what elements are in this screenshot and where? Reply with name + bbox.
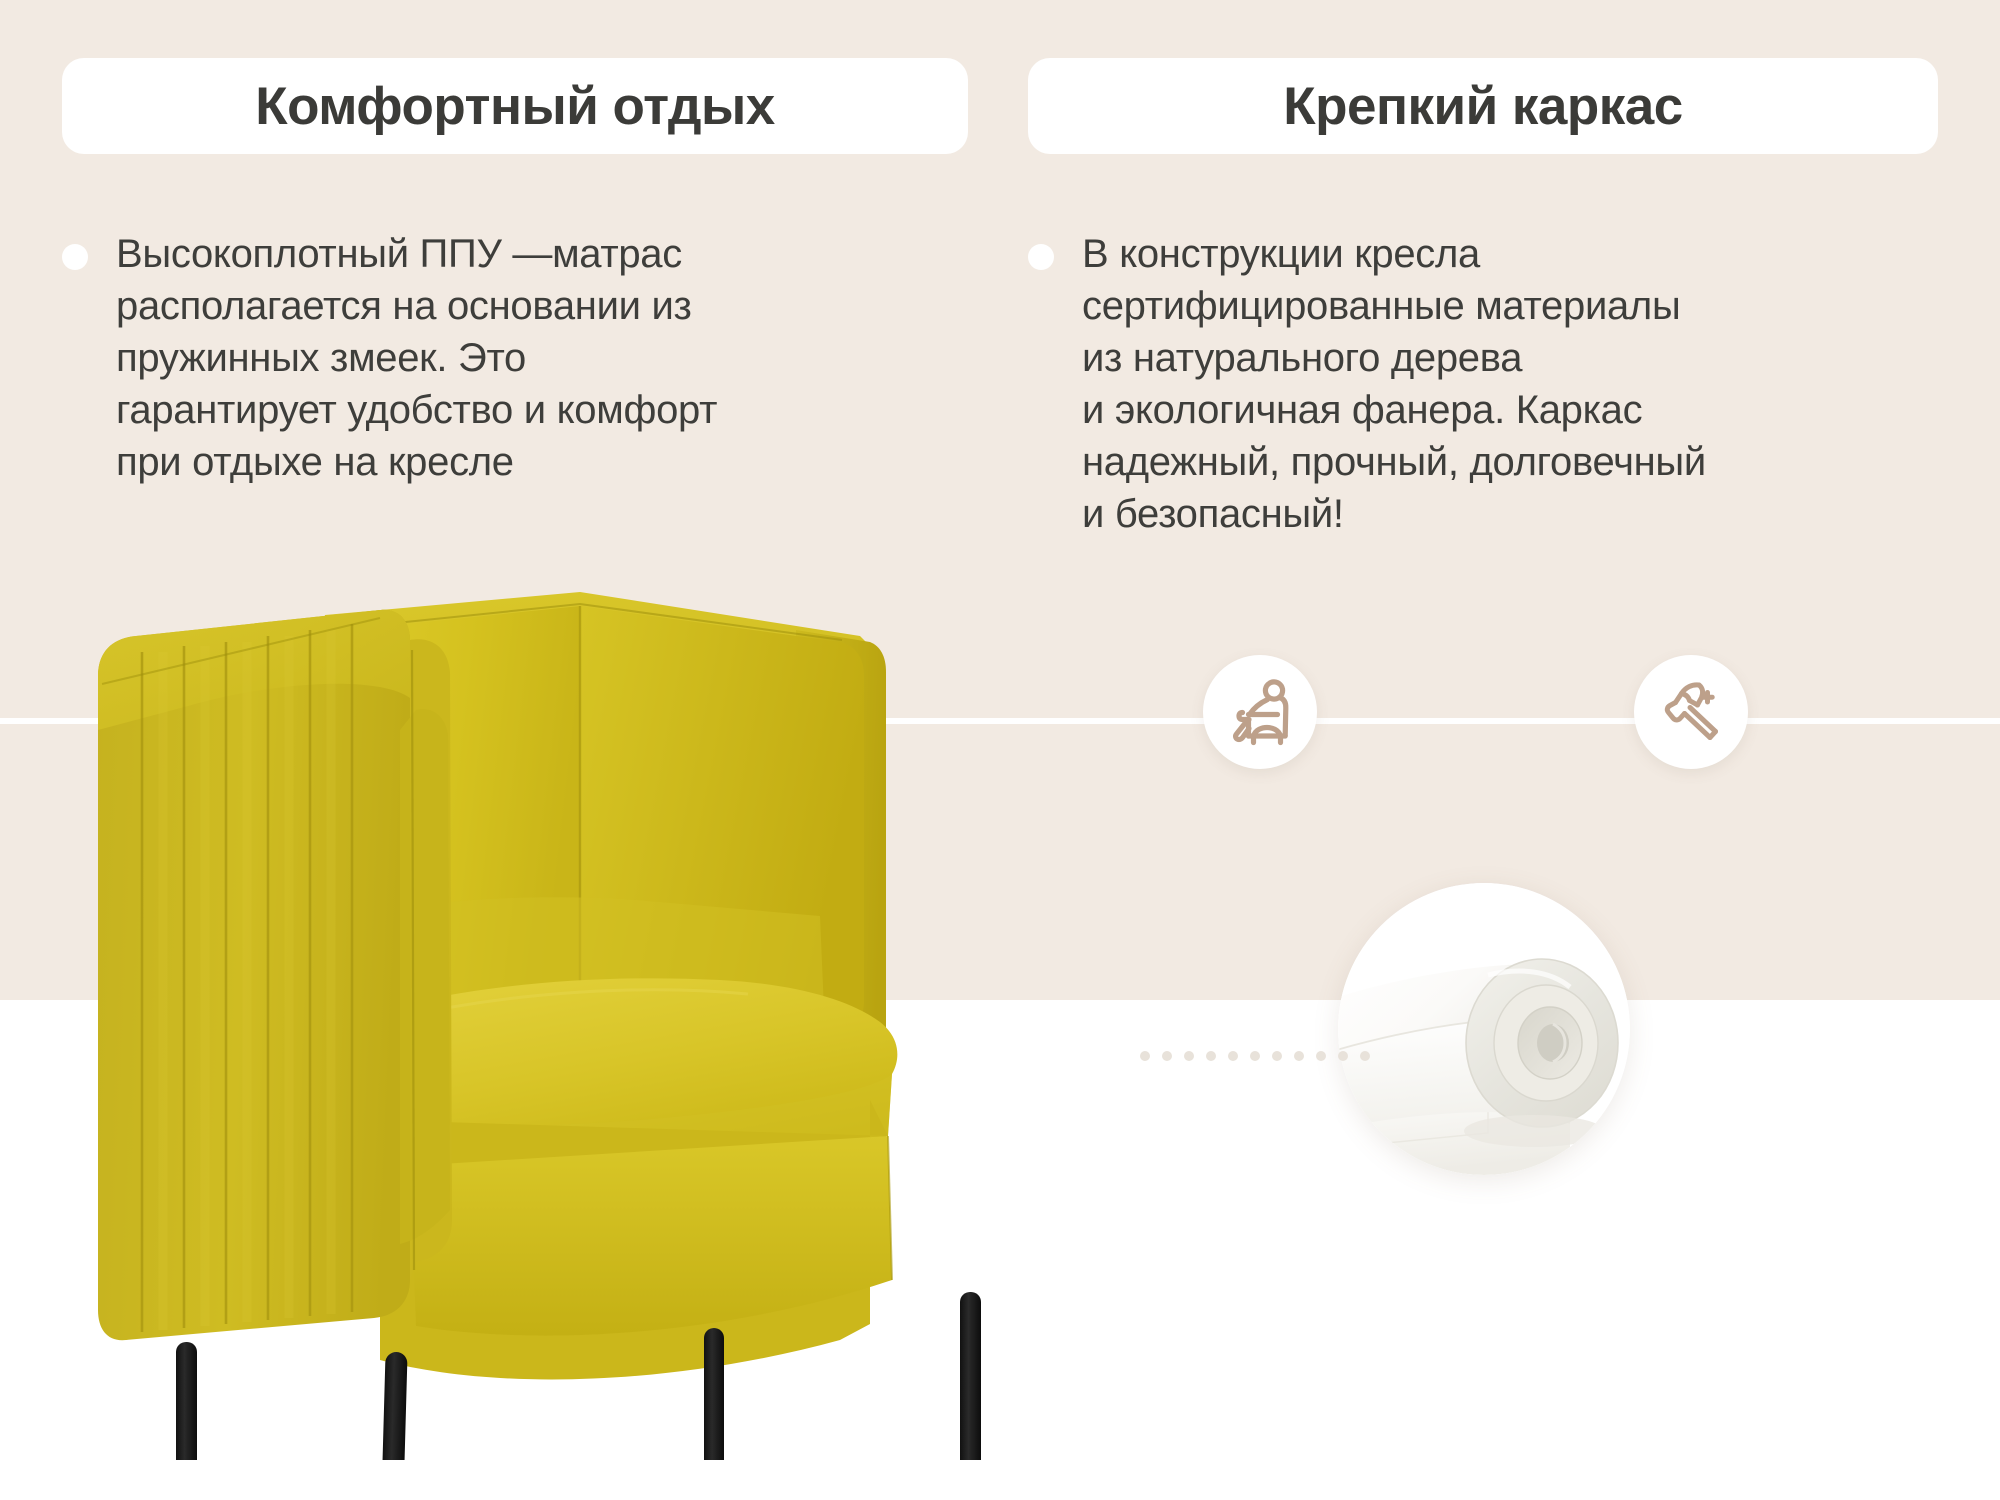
panel-title-right: Крепкий каркас [1028,58,1938,154]
connector-dot [1316,1051,1326,1061]
icon-badge-comfort [1203,655,1317,769]
chair-leg [704,1328,724,1460]
connector-dot [1294,1051,1304,1061]
icon-badge-frame [1634,655,1748,769]
chair-leg [960,1292,981,1460]
chair-left-arm-outer [98,610,410,1340]
chair-leg [176,1342,197,1460]
armchair-product-image [80,580,1100,1460]
feature-right-text: В конструкции кресла сертифицированные м… [1082,228,1706,540]
connector-dot [1360,1051,1370,1061]
connector-dot [1118,1051,1128,1061]
panel-title-left: Комфортный отдых [62,58,968,154]
connector-dot [1272,1051,1282,1061]
bullet-point-icon [62,244,88,270]
hammer-icon [1653,674,1729,750]
panel-title-right-text: Крепкий каркас [1283,76,1682,137]
connector-dot [1338,1051,1348,1061]
connector-dot [1140,1051,1150,1061]
chair-leg [378,1352,408,1460]
connector-dot [1184,1051,1194,1061]
person-sitting-in-armchair-icon [1222,674,1298,750]
connector-dot [1228,1051,1238,1061]
panel-title-left-text: Комфортный отдых [255,76,775,137]
feature-left: Высокоплотный ППУ —матрас располагается … [62,228,962,488]
infographic-canvas: Комфортный отдых Крепкий каркас Высокопл… [0,0,2000,1500]
feature-left-text: Высокоплотный ППУ —матрас располагается … [116,228,717,488]
connector-dot [1162,1051,1172,1061]
connector-dot [1206,1051,1216,1061]
bullet-point-icon [1028,244,1054,270]
foam-roll-photo [1338,883,1630,1175]
connector-dot [1250,1051,1260,1061]
feature-right: В конструкции кресла сертифицированные м… [1028,228,1978,540]
